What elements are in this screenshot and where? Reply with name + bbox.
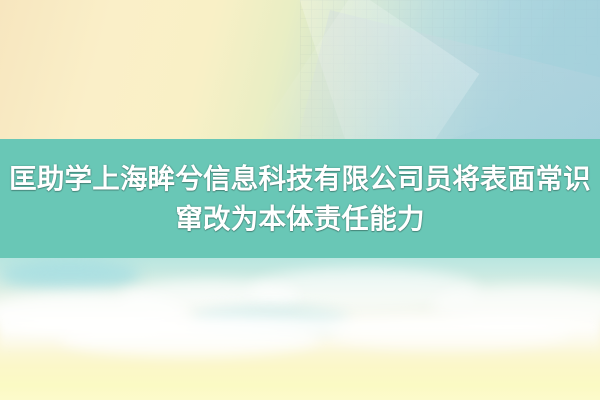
cloud-shape — [0, 292, 190, 334]
cloud-shape — [0, 260, 140, 290]
banner-image: 匡助学上海眸兮信息科技有限公司员将表面常识窜改为本体责任能力 — [0, 0, 600, 400]
cloud-shape — [430, 286, 600, 326]
cloud-shape — [250, 268, 480, 312]
cloud-shape — [60, 320, 320, 356]
cloud-haze — [0, 304, 600, 354]
cloud-shape — [190, 308, 350, 334]
cloud-shape — [120, 280, 300, 314]
grid-texture — [300, 0, 600, 140]
top-background — [0, 0, 600, 140]
cloud-shape — [330, 316, 570, 350]
headline-band: 匡助学上海眸兮信息科技有限公司员将表面常识窜改为本体责任能力 — [0, 139, 600, 258]
headline-text: 匡助学上海眸兮信息科技有限公司员将表面常识窜改为本体责任能力 — [8, 159, 592, 239]
bottom-background — [0, 258, 600, 400]
